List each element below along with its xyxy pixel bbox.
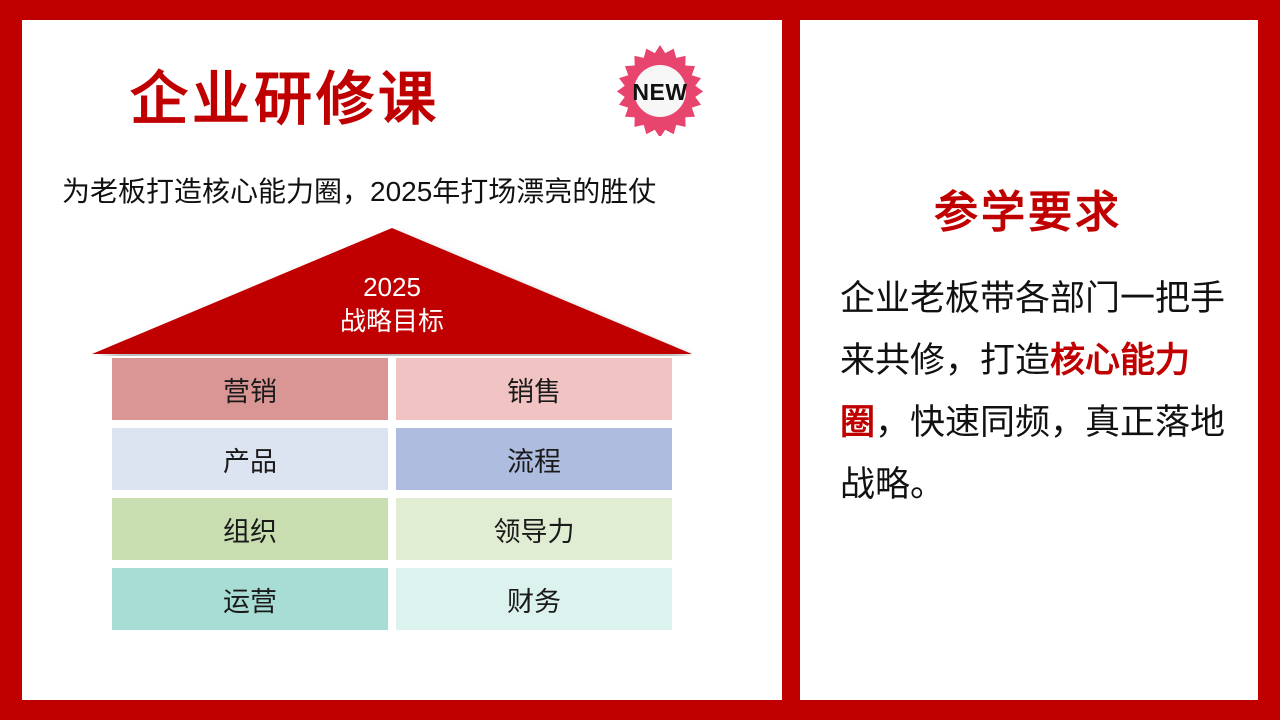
pillar-cell[interactable]: 产品 xyxy=(112,428,388,490)
house-roof xyxy=(92,228,692,356)
page-title: 企业研修课 xyxy=(130,52,440,136)
pillar-cell[interactable]: 财务 xyxy=(396,568,672,630)
pillar-row: 组织 领导力 xyxy=(112,498,672,560)
right-panel-body: 企业老板带各部门一把手来共修，打造核心能力圈，快速同频，真正落地战略。 xyxy=(840,268,1230,516)
svg-text:NEW: NEW xyxy=(632,79,687,105)
right-body-part2: ，快速同频，真正落地战略。 xyxy=(840,403,1225,504)
pillar-cell[interactable]: 运营 xyxy=(112,568,388,630)
right-panel-title: 参学要求 xyxy=(858,176,1198,240)
house-diagram: 2025 战略目标 营销 销售 产品 流程 组织 领导力 运营 财务 xyxy=(92,228,692,638)
slide-root: 企业研修课 NEW 为老板打造核心能力圈，2025年打场漂亮的胜仗 2025 xyxy=(0,0,1280,720)
pillar-grid: 营销 销售 产品 流程 组织 领导力 运营 财务 xyxy=(112,358,672,638)
pillar-cell[interactable]: 领导力 xyxy=(396,498,672,560)
pillar-row: 运营 财务 xyxy=(112,568,672,630)
pillar-cell[interactable]: 销售 xyxy=(396,358,672,420)
subtitle: 为老板打造核心能力圈，2025年打场漂亮的胜仗 xyxy=(62,170,656,210)
pillar-cell[interactable]: 流程 xyxy=(396,428,672,490)
pillar-cell[interactable]: 营销 xyxy=(112,358,388,420)
pillar-row: 产品 流程 xyxy=(112,428,672,490)
pillar-row: 营销 销售 xyxy=(112,358,672,420)
new-badge: NEW xyxy=(614,44,706,136)
pillar-cell[interactable]: 组织 xyxy=(112,498,388,560)
